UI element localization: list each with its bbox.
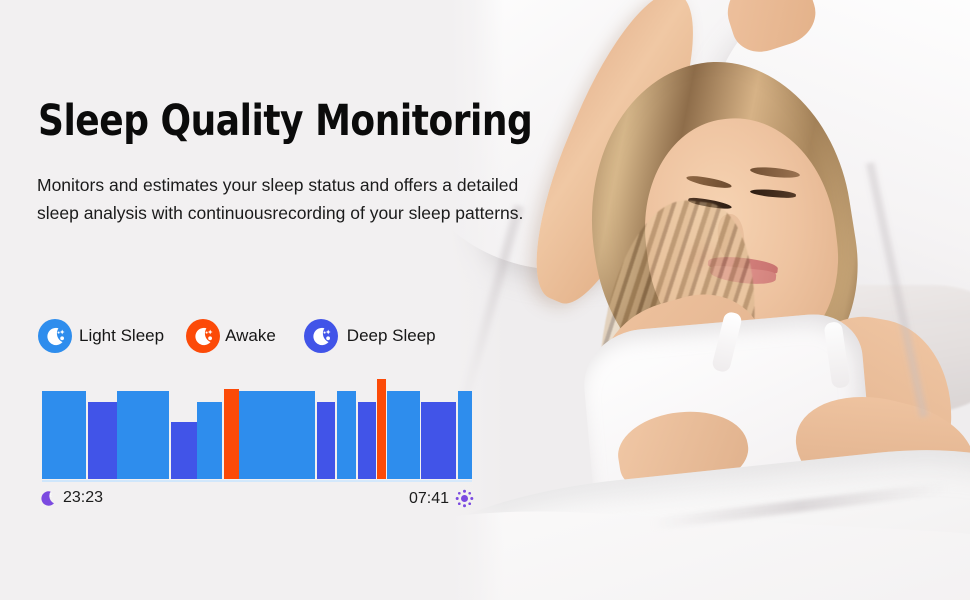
chart-bar[interactable] xyxy=(377,379,386,479)
chart-bar[interactable] xyxy=(171,422,197,479)
legend-label-awake: Awake xyxy=(225,326,276,346)
legend-item-awake[interactable]: Awake xyxy=(186,319,276,353)
moon-stars-icon xyxy=(186,319,220,353)
sleep-stage-legend: Light Sleep Awake xyxy=(38,319,436,353)
chart-bar[interactable] xyxy=(458,391,472,479)
chart-bar[interactable] xyxy=(337,391,356,479)
page-title: Sleep Quality Monitoring xyxy=(38,100,532,143)
sleep-end-label: 07:41 xyxy=(409,490,449,508)
sleep-time-range: z 23:23 07:41 xyxy=(40,489,472,513)
chart-baseline xyxy=(42,480,472,482)
moon-stars-icon xyxy=(304,319,338,353)
chart-bar[interactable] xyxy=(117,391,169,479)
chart-bar[interactable] xyxy=(224,389,239,479)
chart-bar[interactable] xyxy=(387,391,420,479)
chart-bar[interactable] xyxy=(239,391,315,479)
legend-item-deep-sleep[interactable]: Deep Sleep xyxy=(304,319,436,353)
sleep-start-label: 23:23 xyxy=(63,489,103,507)
legend-item-light-sleep[interactable]: Light Sleep xyxy=(38,319,164,353)
chart-bar[interactable] xyxy=(421,402,456,479)
page-subtitle: Monitors and estimates your sleep status… xyxy=(37,172,537,227)
chart-bar[interactable] xyxy=(88,402,117,479)
chart-bar[interactable] xyxy=(42,391,86,479)
chart-bar[interactable] xyxy=(317,402,335,479)
moon-stars-icon xyxy=(38,319,72,353)
sleep-start-time: z 23:23 xyxy=(40,489,103,507)
moon-z-icon: z xyxy=(40,490,57,507)
chart-bar[interactable] xyxy=(358,402,376,479)
legend-label-deep-sleep: Deep Sleep xyxy=(347,326,436,346)
svg-text:z: z xyxy=(49,492,52,498)
sleep-stage-bar-chart[interactable] xyxy=(42,374,472,479)
sun-icon xyxy=(455,489,474,508)
legend-label-light-sleep: Light Sleep xyxy=(79,326,164,346)
text-and-chart-panel: Sleep Quality Monitoring Monitors and es… xyxy=(0,0,560,600)
chart-bar[interactable] xyxy=(197,402,222,479)
sleep-end-time: 07:41 xyxy=(409,489,474,508)
